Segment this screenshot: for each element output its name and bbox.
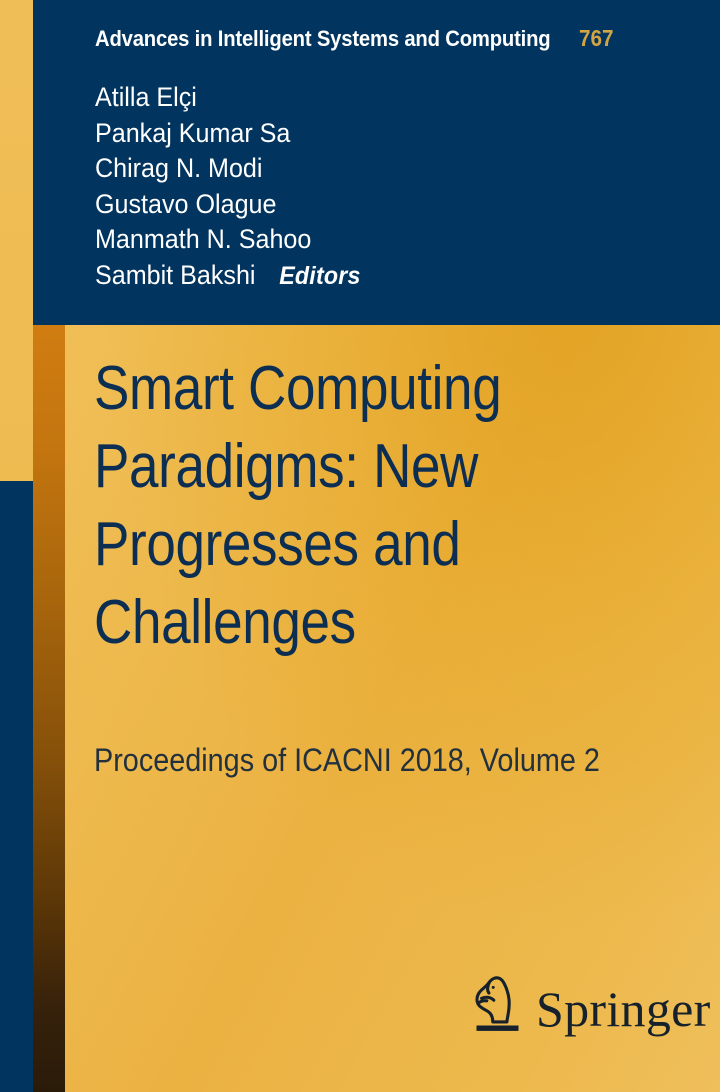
editor-name: Manmath N. Sahoo bbox=[95, 222, 616, 258]
editors-role-label: Editors bbox=[279, 262, 360, 290]
editor-name: Chirag N. Modi bbox=[95, 151, 616, 187]
series-title: Advances in Intelligent Systems and Comp… bbox=[95, 26, 550, 52]
publisher-logo: Springer bbox=[468, 968, 668, 1054]
navy-header-panel-notch bbox=[33, 0, 65, 56]
springer-knight-icon bbox=[468, 975, 530, 1047]
editor-name: Atilla Elçi bbox=[95, 80, 616, 116]
left-strip-navy-block bbox=[0, 481, 33, 1092]
book-title-line: Paradigms: New bbox=[94, 428, 607, 506]
series-line: Advances in Intelligent Systems and Comp… bbox=[95, 25, 675, 52]
editor-name-text: Manmath N. Sahoo bbox=[95, 224, 311, 254]
editor-name-text: Sambit Bakshi bbox=[95, 260, 255, 290]
editor-name-text: Atilla Elçi bbox=[95, 82, 197, 112]
editor-name-text: Pankaj Kumar Sa bbox=[95, 118, 290, 148]
publisher-name: Springer bbox=[536, 984, 711, 1038]
editors-list: Atilla Elçi Pankaj Kumar Sa Chirag N. Mo… bbox=[95, 80, 655, 294]
editor-name: Gustavo Olague bbox=[95, 187, 616, 223]
editor-name-with-role: Sambit Bakshi Editors bbox=[95, 258, 616, 295]
book-title-line: Challenges bbox=[94, 584, 607, 662]
book-title-line: Smart Computing bbox=[94, 350, 607, 428]
series-volume-number: 767 bbox=[579, 25, 614, 52]
editor-name: Pankaj Kumar Sa bbox=[95, 116, 616, 152]
editor-name-text: Gustavo Olague bbox=[95, 189, 276, 219]
book-cover: Advances in Intelligent Systems and Comp… bbox=[0, 0, 720, 1092]
book-subtitle: Proceedings of ICACNI 2018, Volume 2 bbox=[94, 740, 634, 780]
book-title-line: Progresses and bbox=[94, 506, 607, 584]
editor-name-text: Chirag N. Modi bbox=[95, 153, 262, 183]
book-title: Smart Computing Paradigms: New Progresse… bbox=[94, 350, 694, 662]
